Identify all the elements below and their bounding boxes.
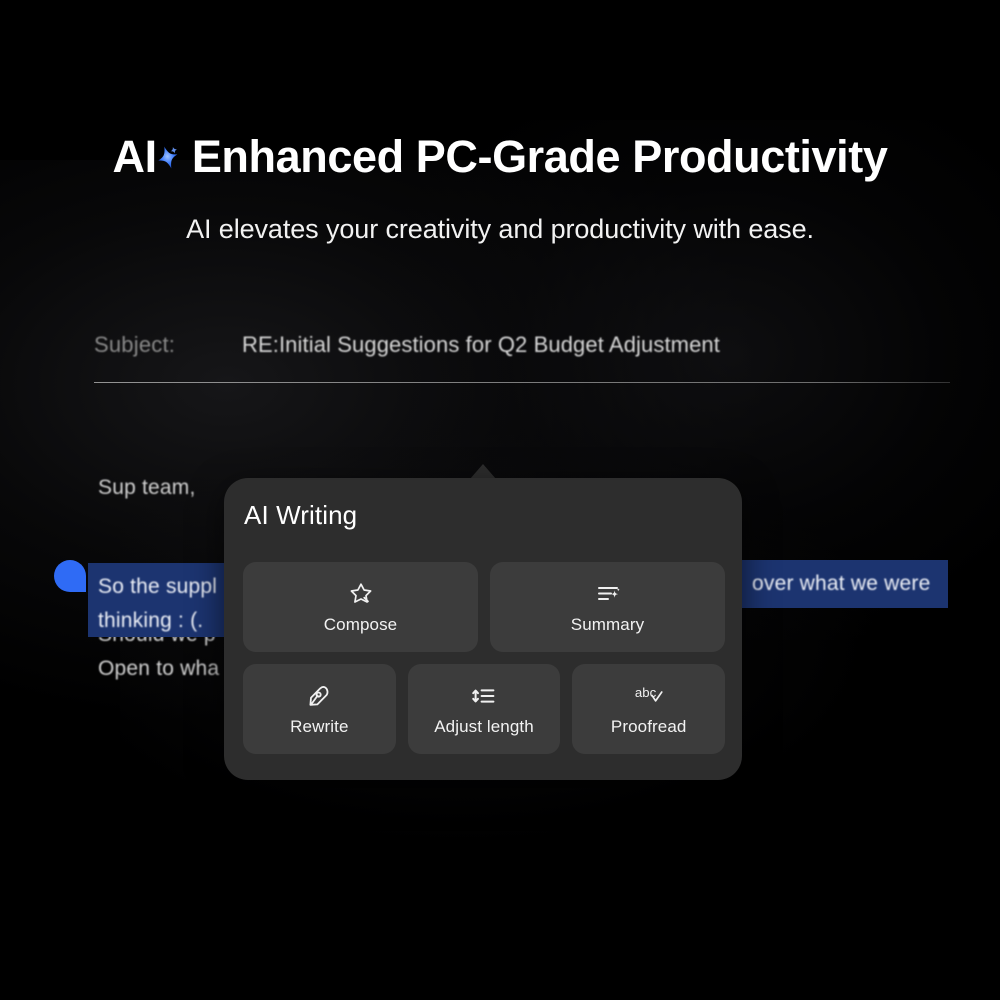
rewrite-button[interactable]: Rewrite <box>243 664 396 754</box>
body-line-1: Sup team, <box>98 476 196 500</box>
body-line-5: Open to wha <box>98 657 219 681</box>
sparkle-icon <box>155 144 181 174</box>
ai-writing-popover: AI Writing Compose <box>224 478 742 780</box>
proofread-label: Proofread <box>611 717 687 737</box>
abc-check-icon: abc <box>634 681 664 711</box>
adjust-length-icon <box>469 681 499 711</box>
proofread-button[interactable]: abc Proofread <box>572 664 725 754</box>
rewrite-label: Rewrite <box>290 717 348 737</box>
ai-action-row-1: Compose Summary <box>243 562 725 652</box>
selection-handle-start[interactable] <box>54 560 86 592</box>
magic-star-icon <box>346 579 376 609</box>
adjust-length-button[interactable]: Adjust length <box>408 664 561 754</box>
pen-nib-icon <box>304 681 334 711</box>
selected-line-2: thinking : (. <box>98 609 203 633</box>
subject-label: Subject: <box>94 332 175 358</box>
subject-input-value[interactable]: RE:Initial Suggestions for Q2 Budget Adj… <box>242 332 720 358</box>
ai-action-grid: Compose Summary <box>243 562 725 766</box>
compose-button[interactable]: Compose <box>243 562 478 652</box>
selected-line-1: So the suppl <box>98 575 217 599</box>
selected-fragment-right: over what we were <box>752 572 930 596</box>
page-title-suffix: Enhanced PC-Grade Productivity <box>180 131 888 182</box>
page-title: AI Enhanced PC-Grade Productivity <box>0 132 1000 182</box>
popover-caret <box>470 464 496 479</box>
summary-button[interactable]: Summary <box>490 562 725 652</box>
ai-action-row-2: Rewrite Adjust length <box>243 664 725 754</box>
subject-divider <box>94 382 950 383</box>
compose-label: Compose <box>324 615 397 635</box>
page-title-prefix: AI <box>113 131 157 182</box>
subject-row[interactable]: Subject: RE:Initial Suggestions for Q2 B… <box>94 332 954 372</box>
summary-lines-sparkle-icon <box>593 579 623 609</box>
screen-root: AI Enhanced PC-Grade Productivity AI ele… <box>0 0 1000 1000</box>
popover-title: AI Writing <box>244 500 357 531</box>
adjust-length-label: Adjust length <box>434 717 534 737</box>
summary-label: Summary <box>571 615 644 635</box>
page-subtitle: AI elevates your creativity and producti… <box>0 214 1000 245</box>
